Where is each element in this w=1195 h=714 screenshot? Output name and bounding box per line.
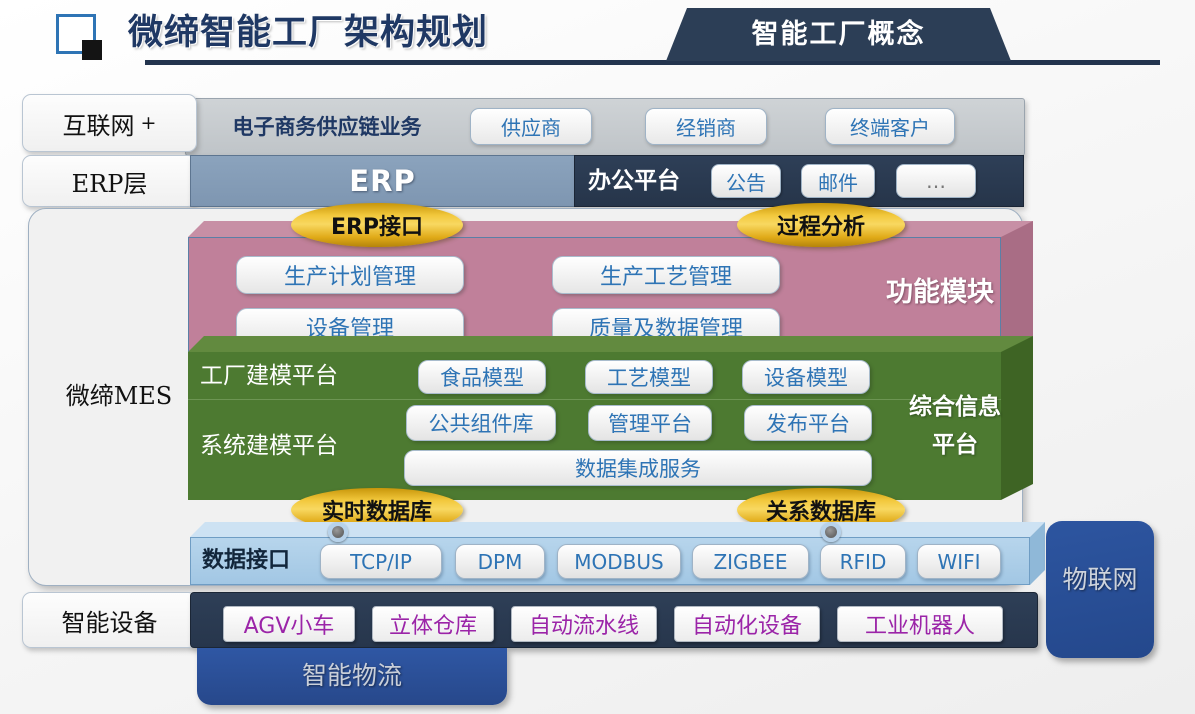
- protocol-tcpip[interactable]: TCP/IP: [320, 544, 442, 579]
- protocol-rfid[interactable]: RFID: [820, 544, 906, 579]
- device-agv-cart[interactable]: AGV小车: [223, 606, 355, 642]
- layer-label-smart-device: 智能设备: [22, 592, 197, 648]
- function-block-title: 功能模块: [860, 268, 1020, 318]
- chip-mail[interactable]: 邮件: [801, 164, 875, 198]
- info-platform-top-face: [188, 336, 1033, 352]
- info-platform-title: 综合信息平台: [900, 388, 1010, 464]
- iot-label: 物联网: [1046, 560, 1154, 600]
- data-interface-top-face: [190, 522, 1045, 537]
- system-modeling-platform-label: 系统建模平台: [200, 428, 410, 464]
- layer-label-internet: 互联网 +: [22, 94, 197, 152]
- module-production-process[interactable]: 生产工艺管理: [552, 256, 780, 294]
- common-component-library[interactable]: 公共组件库: [406, 405, 556, 441]
- mes-label: 微缔MES: [44, 375, 194, 417]
- device-automation-equipment[interactable]: 自动化设备: [674, 606, 820, 642]
- device-automatic-assembly-line[interactable]: 自动流水线: [511, 606, 657, 642]
- section-tab-label[interactable]: 智能工厂概念: [666, 8, 1011, 61]
- chip-dealer[interactable]: 经销商: [645, 108, 767, 145]
- data-interface-label: 数据接口: [202, 544, 312, 578]
- model-equipment[interactable]: 设备模型: [742, 360, 870, 394]
- management-platform[interactable]: 管理平台: [588, 405, 712, 441]
- erp-bar[interactable]: ERP: [190, 155, 575, 207]
- device-stereoscopic-warehouse[interactable]: 立体仓库: [372, 606, 494, 642]
- cylinder-process-analysis[interactable]: 过程分析: [737, 203, 905, 247]
- ecommerce-supplychain-label: 电子商务供应链业务: [196, 110, 458, 144]
- layer-label-erp: ERP层: [22, 155, 197, 207]
- device-industrial-robot[interactable]: 工业机器人: [837, 606, 1003, 642]
- info-platform-divider: [188, 399, 1001, 400]
- factory-modeling-platform-label: 工厂建模平台: [200, 358, 410, 394]
- protocol-wifi[interactable]: WIFI: [917, 544, 1001, 579]
- protocol-modbus[interactable]: MODBUS: [557, 544, 681, 579]
- protocol-zigbee[interactable]: ZIGBEE: [692, 544, 809, 579]
- smart-logistics-label: 智能物流: [197, 655, 507, 697]
- chip-more[interactable]: …: [896, 164, 976, 198]
- connector-dot-relational-db: [821, 522, 841, 542]
- plus-sign: +: [141, 112, 157, 134]
- company-logo-icon: [56, 14, 102, 60]
- model-process[interactable]: 工艺模型: [585, 360, 713, 394]
- data-integration-service[interactable]: 数据集成服务: [404, 450, 872, 486]
- connector-dot-realtime-db: [328, 522, 348, 542]
- cylinder-erp-interface[interactable]: ERP接口: [291, 203, 463, 247]
- page-title: 微缔智能工厂架构规划: [128, 8, 598, 58]
- office-platform-label: 办公平台: [588, 163, 718, 199]
- chip-supplier[interactable]: 供应商: [470, 108, 592, 145]
- layer-label-internet-text: 互联网: [63, 106, 135, 141]
- publish-platform[interactable]: 发布平台: [744, 405, 872, 441]
- chip-end-customer[interactable]: 终端客户: [825, 108, 955, 145]
- module-production-plan[interactable]: 生产计划管理: [236, 256, 464, 294]
- chip-notice[interactable]: 公告: [711, 164, 781, 198]
- protocol-dpm[interactable]: DPM: [455, 544, 545, 579]
- model-food[interactable]: 食品模型: [418, 360, 546, 394]
